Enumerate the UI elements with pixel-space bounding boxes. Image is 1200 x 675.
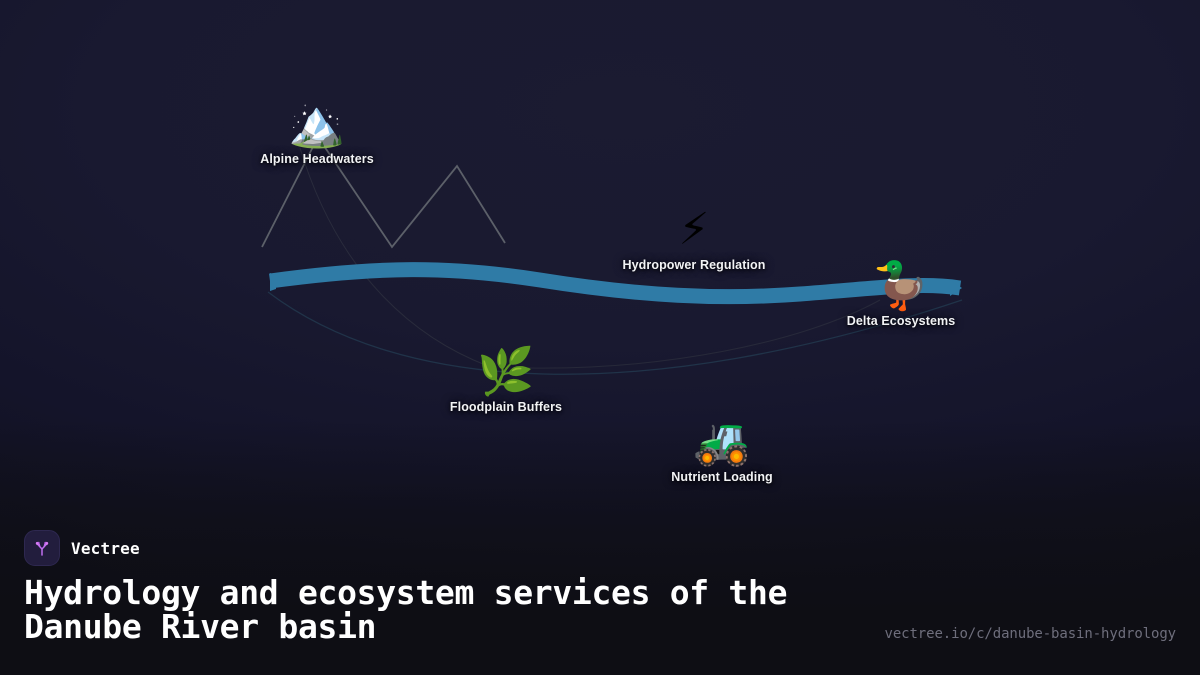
footer-bar: Vectree Hydrology and ecosystem services… xyxy=(0,530,1200,675)
node-label-alpine-headwaters: Alpine Headwaters xyxy=(260,152,374,166)
high-voltage-icon: ⚡ xyxy=(622,208,765,252)
node-delta-ecosystems[interactable]: 🦆 Delta Ecosystems xyxy=(847,262,956,328)
node-nutrient-loading[interactable]: 🚜 Nutrient Loading xyxy=(671,418,773,484)
node-floodplain-buffers[interactable]: 🌿 Floodplain Buffers xyxy=(450,348,562,414)
permalink-url: vectree.io/c/danube-basin-hydrology xyxy=(884,626,1176,642)
node-label-nutrient-loading: Nutrient Loading xyxy=(671,470,773,484)
screenshot-root: 🏔️ Alpine Headwaters ⚡ Hydropower Regula… xyxy=(0,0,1200,675)
node-label-floodplain-buffers: Floodplain Buffers xyxy=(450,400,562,414)
herb-leaf-icon: 🌿 xyxy=(450,348,562,394)
node-hydropower-regulation[interactable]: ⚡ Hydropower Regulation xyxy=(622,208,765,272)
mountain-snow-icon: 🏔️ xyxy=(260,100,374,146)
vectree-branch-logo xyxy=(24,530,60,566)
node-label-delta-ecosystems: Delta Ecosystems xyxy=(847,314,956,328)
link-floodplain-to-delta xyxy=(528,300,880,368)
river-source-cap xyxy=(270,273,276,291)
page-title: Hydrology and ecosystem services of the … xyxy=(24,576,904,644)
node-alpine-headwaters[interactable]: 🏔️ Alpine Headwaters xyxy=(260,100,374,166)
brand-name: Vectree xyxy=(71,539,140,558)
node-label-hydropower-regulation: Hydropower Regulation xyxy=(622,258,765,272)
tractor-icon: 🚜 xyxy=(671,418,773,464)
link-alpine-to-floodplain xyxy=(300,148,488,366)
duck-icon: 🦆 xyxy=(847,262,956,308)
brand-row[interactable]: Vectree xyxy=(24,530,140,566)
